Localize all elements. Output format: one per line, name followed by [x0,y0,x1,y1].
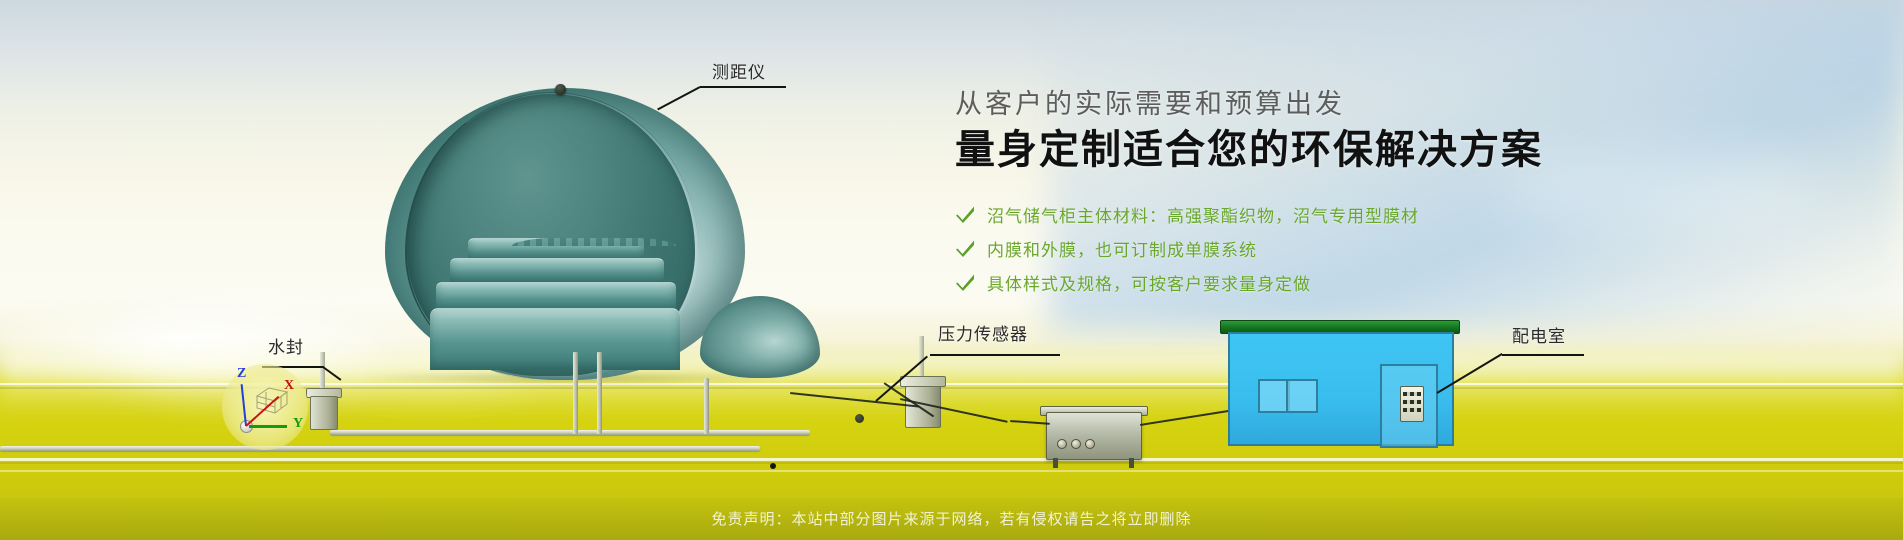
control-panel-row [1403,392,1421,396]
disclaimer-text: 免责声明：本站中部分图片来源于网络，若有侵权请告之将立即删除 [0,508,1903,529]
promo-copy-block: 从客户的实际需要和预算出发 量身定制适合您的环保解决方案 沼气储气柜主体材料：高… [955,88,1655,299]
rangefinder-sensor-icon [555,84,566,95]
ground-line [0,458,1903,461]
building-window [1286,379,1318,413]
ground-line [0,470,1903,472]
callout-power-room-line [1502,354,1584,356]
axis-orientation-gizmo: Z X Y [222,364,308,450]
control-panel-row [1403,400,1421,404]
check-icon [955,204,976,225]
callout-water-seal-label: 水封 [268,333,304,358]
building-wall [1228,332,1454,446]
gizmo-axis-z [241,384,247,426]
blower-leg [1129,458,1134,468]
callout-pressure-sensor-label: 压力传感器 [938,320,1028,345]
control-panel-row [1403,408,1421,412]
power-distribution-building [1228,320,1450,442]
list-item-label: 内膜和外膜，也可订制成单膜系统 [987,236,1257,261]
gizmo-axis-x-label: X [284,378,294,394]
gizmo-axis-y [249,425,287,428]
list-item: 内膜和外膜，也可订制成单膜系统 [955,231,1655,265]
promo-banner: 测距仪 水封 压力传感器 配电室 Z [0,0,1903,540]
biogas-holder-dome [385,88,745,380]
support-post [573,352,578,434]
water-seal-stem [320,352,325,390]
gizmo-axis-z-label: Z [237,366,246,382]
support-post [597,352,602,434]
promo-feature-list: 沼气储气柜主体材料：高强聚酯织物，沼气专用型膜材 内膜和外膜，也可订制成单膜系统… [955,197,1655,299]
ground-pipe [0,446,760,451]
support-post [704,378,709,434]
blower-leg [1053,458,1058,468]
membrane-step [450,258,664,285]
ground-pipe [330,430,810,435]
blower-compressor-unit [1046,412,1142,460]
callout-power-room-label: 配电室 [1512,322,1566,347]
pipe-valve-knob [855,414,864,423]
membrane-step [430,308,680,370]
check-icon [955,272,976,293]
list-item-label: 沼气储气柜主体材料：高强聚酯织物，沼气专用型膜材 [987,202,1419,227]
list-item-label: 具体样式及规格，可按客户要求量身定做 [987,270,1311,295]
blower-gauge [1057,439,1067,449]
membrane-ripple [512,238,676,246]
ground-line [0,462,1903,464]
callout-pressure-sensor-line [930,354,1060,356]
dome-inner-membrane [430,238,680,370]
callout-rangefinder-line [700,86,786,88]
list-item: 沼气储气柜主体材料：高强聚酯织物，沼气专用型膜材 [955,197,1655,231]
promo-subtitle: 从客户的实际需要和预算出发 [955,88,1655,120]
pipe-joint-dot [770,463,776,469]
callout-rangefinder-label: 测距仪 [712,58,766,83]
promo-title: 量身定制适合您的环保解决方案 [955,125,1655,175]
blower-gauge [1071,439,1081,449]
water-seal-unit [310,396,338,430]
list-item: 具体样式及规格，可按客户要求量身定做 [955,265,1655,299]
blower-gauge [1085,439,1095,449]
gizmo-axis-y-label: Y [293,416,303,432]
control-panel [1400,386,1424,422]
check-icon [955,238,976,259]
